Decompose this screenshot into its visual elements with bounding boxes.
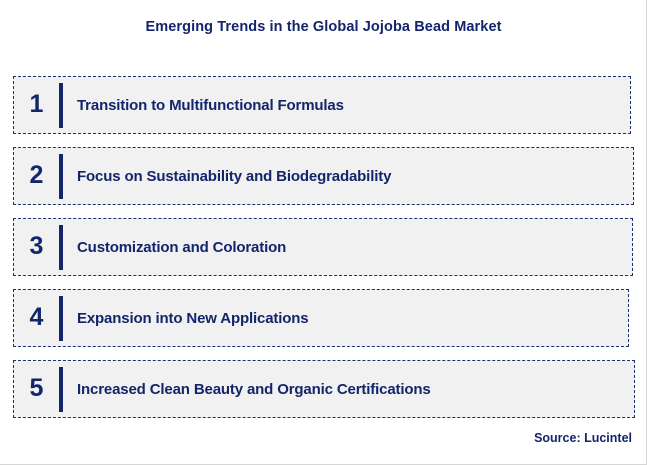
trend-label: Expansion into New Applications bbox=[63, 310, 628, 327]
trend-label: Customization and Coloration bbox=[63, 239, 632, 256]
list-item[interactable]: 3 Customization and Coloration bbox=[13, 218, 633, 276]
trend-label: Transition to Multifunctional Formulas bbox=[63, 97, 630, 114]
trend-number: 5 bbox=[14, 376, 59, 403]
list-item[interactable]: 2 Focus on Sustainability and Biodegrada… bbox=[13, 147, 634, 205]
list-item[interactable]: 4 Expansion into New Applications bbox=[13, 289, 629, 347]
trend-label: Focus on Sustainability and Biodegradabi… bbox=[63, 168, 633, 185]
trend-list: 1 Transition to Multifunctional Formulas… bbox=[13, 76, 635, 431]
trend-number: 2 bbox=[14, 163, 59, 190]
source-attribution: Source: Lucintel bbox=[534, 431, 632, 445]
trend-number: 1 bbox=[14, 92, 59, 119]
trend-label: Increased Clean Beauty and Organic Certi… bbox=[63, 381, 634, 398]
list-item[interactable]: 1 Transition to Multifunctional Formulas bbox=[13, 76, 631, 134]
page-title: Emerging Trends in the Global Jojoba Bea… bbox=[0, 19, 647, 35]
trend-number: 4 bbox=[14, 305, 59, 332]
list-item[interactable]: 5 Increased Clean Beauty and Organic Cer… bbox=[13, 360, 635, 418]
trend-number: 3 bbox=[14, 234, 59, 261]
